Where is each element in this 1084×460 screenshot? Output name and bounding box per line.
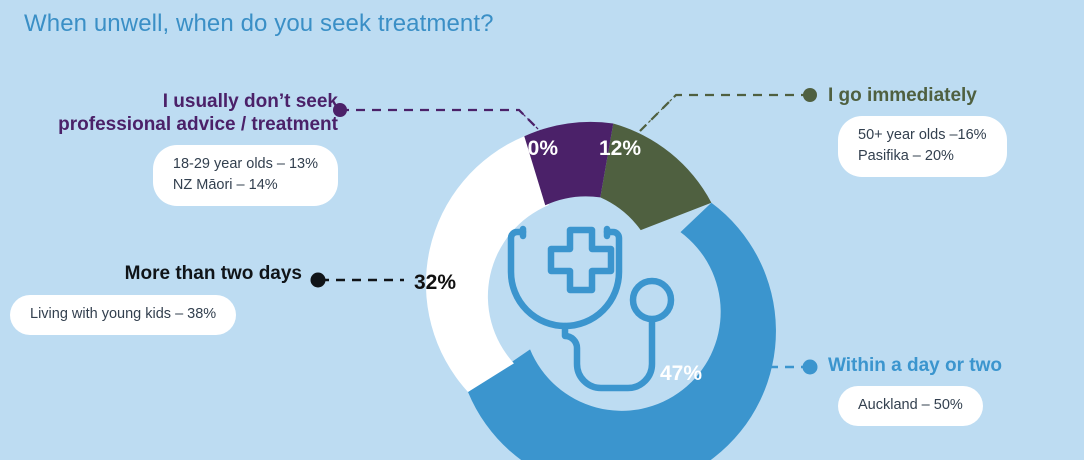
callout-morethan: More than two days Living with young kid… [10, 262, 302, 335]
callout-withinday: Within a day or two Auckland – 50% [828, 354, 1078, 426]
page-title: When unwell, when do you seek treatment? [24, 10, 494, 38]
callout-withinday-note-1: Auckland – 50% [858, 395, 963, 416]
callout-dontseek-note-1: 18-29 year olds – 13% [173, 154, 318, 175]
callout-morethan-note-1: Living with young kids – 38% [30, 304, 216, 325]
callout-dontseek-line2: professional advice / treatment [58, 114, 338, 135]
slice-withinday[interactable] [468, 203, 776, 460]
callout-immediately-heading: I go immediately [828, 84, 1078, 107]
callout-immediately-pill: 50+ year olds –16% Pasifika – 20% [838, 116, 1007, 177]
callout-dontseek-pill: 18-29 year olds – 13% NZ Māori – 14% [153, 145, 338, 206]
donut-segments [426, 122, 776, 460]
connector-morethan [311, 273, 405, 288]
callout-dontseek-line1: I usually don’t seek [163, 91, 338, 112]
callout-morethan-heading: More than two days [10, 262, 302, 285]
connector-immediately [640, 88, 817, 131]
connector-dot-immediately [803, 88, 817, 102]
connector-dot-morethan [311, 273, 326, 288]
callout-morethan-pill: Living with young kids – 38% [10, 295, 236, 335]
callout-withinday-pill: Auckland – 50% [838, 386, 983, 426]
infographic-canvas: When unwell, when do you seek treatment? [0, 0, 1084, 460]
connector-dot-withinday [803, 360, 818, 375]
slice-immediately[interactable] [600, 124, 711, 231]
callout-dontseek-note-2: NZ Māori – 14% [173, 175, 318, 196]
callout-immediately: I go immediately 50+ year olds –16% Pasi… [828, 84, 1078, 177]
callout-withinday-heading: Within a day or two [828, 354, 1078, 377]
callout-immediately-note-2: Pasifika – 20% [858, 146, 987, 167]
callout-dontseek: I usually don’t seek professional advice… [8, 90, 338, 206]
callout-immediately-note-1: 50+ year olds –16% [858, 125, 987, 146]
callout-dontseek-heading: I usually don’t seek professional advice… [8, 90, 338, 136]
